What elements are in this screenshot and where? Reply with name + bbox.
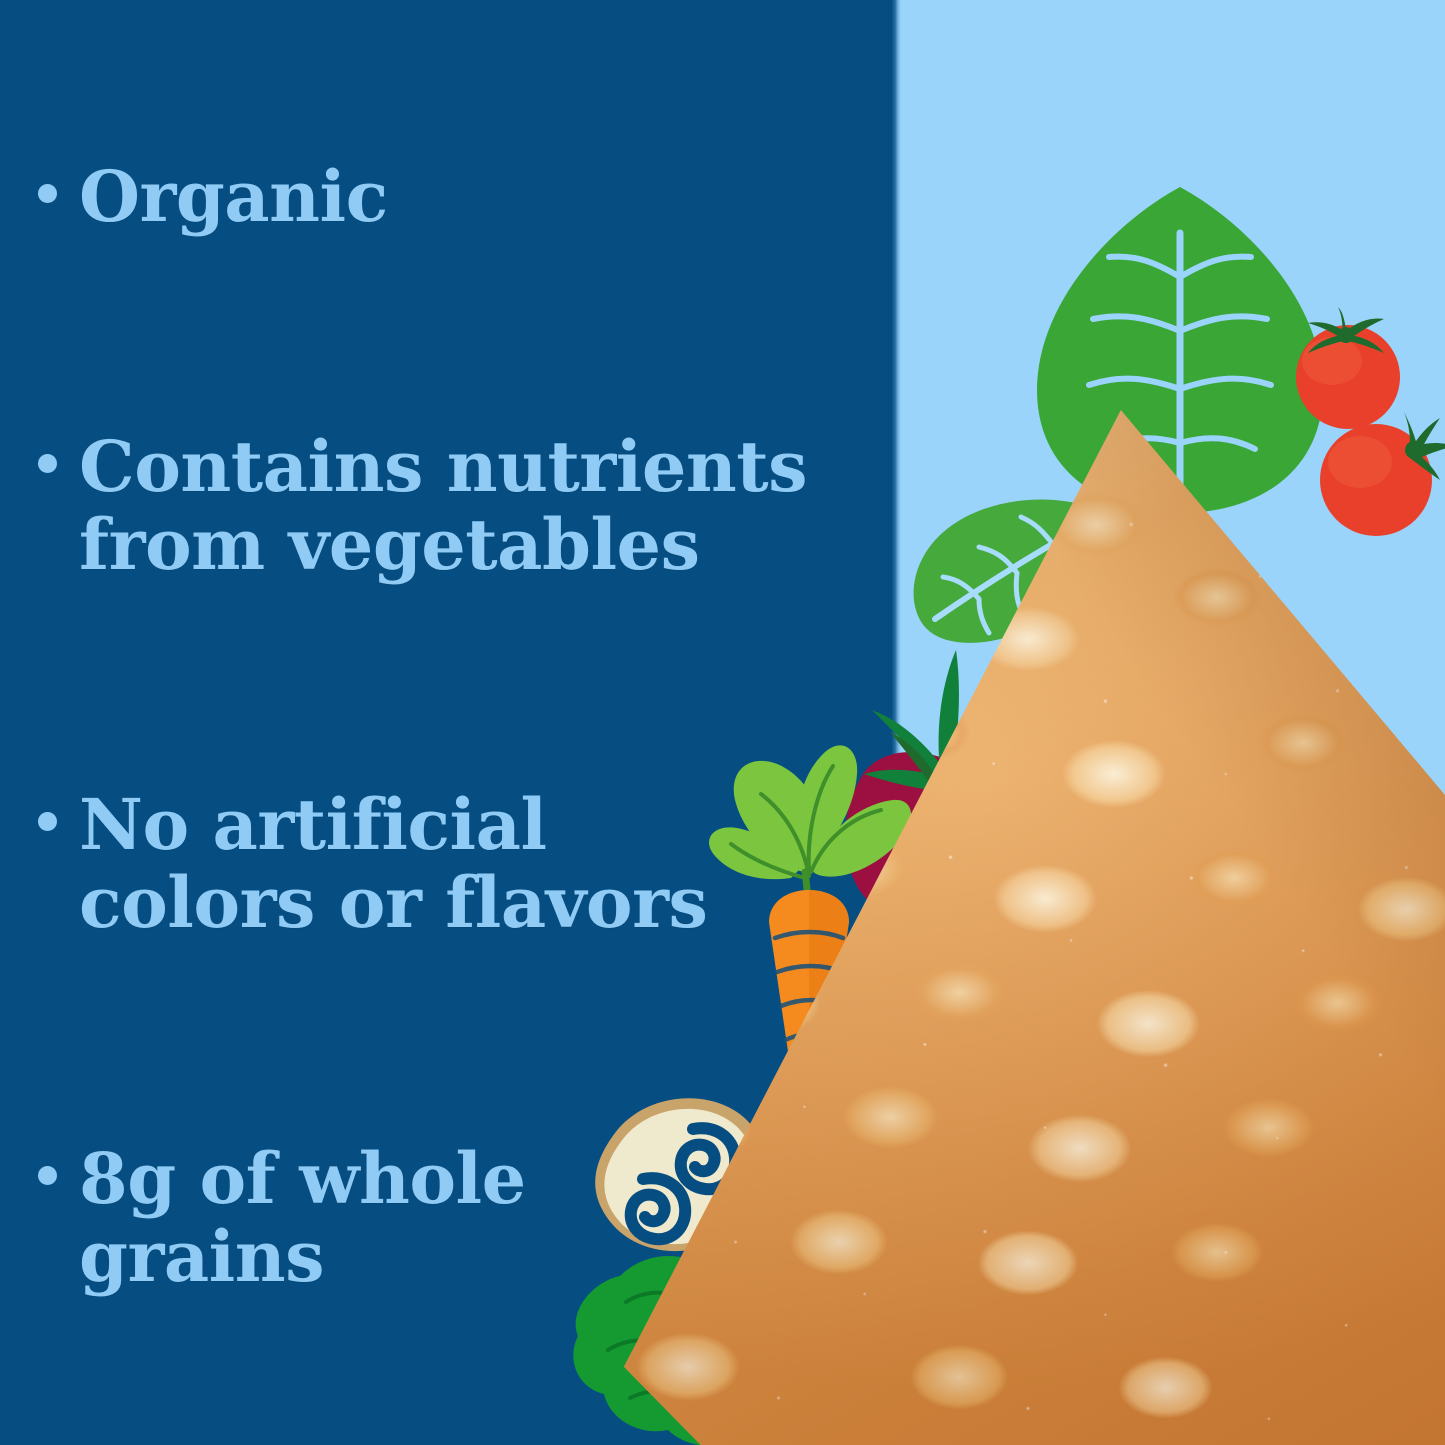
cherry-tomato-icon xyxy=(1318,400,1445,540)
benefit-item-organic: Organic xyxy=(0,158,388,236)
benefit-item-no-artificial: No artificial colors or flavors xyxy=(0,786,707,943)
benefit-item-whole-grains: 8g of whole grains xyxy=(0,1140,526,1297)
benefits-list: Organic Contains nutrients from vegetabl… xyxy=(0,0,896,1445)
benefit-label: No artificial colors or flavors xyxy=(79,786,707,943)
bullet-dot-icon xyxy=(38,184,57,203)
benefit-label: 8g of whole grains xyxy=(79,1140,526,1297)
bullet-dot-icon xyxy=(38,454,57,473)
benefit-item-nutrients: Contains nutrients from vegetables xyxy=(0,428,807,585)
bullet-dot-icon xyxy=(38,1166,57,1185)
benefit-label: Organic xyxy=(79,158,388,236)
benefit-label: Contains nutrients from vegetables xyxy=(79,428,807,585)
bullet-dot-icon xyxy=(38,812,57,831)
product-benefits-panel: Organic Contains nutrients from vegetabl… xyxy=(0,0,1445,1445)
